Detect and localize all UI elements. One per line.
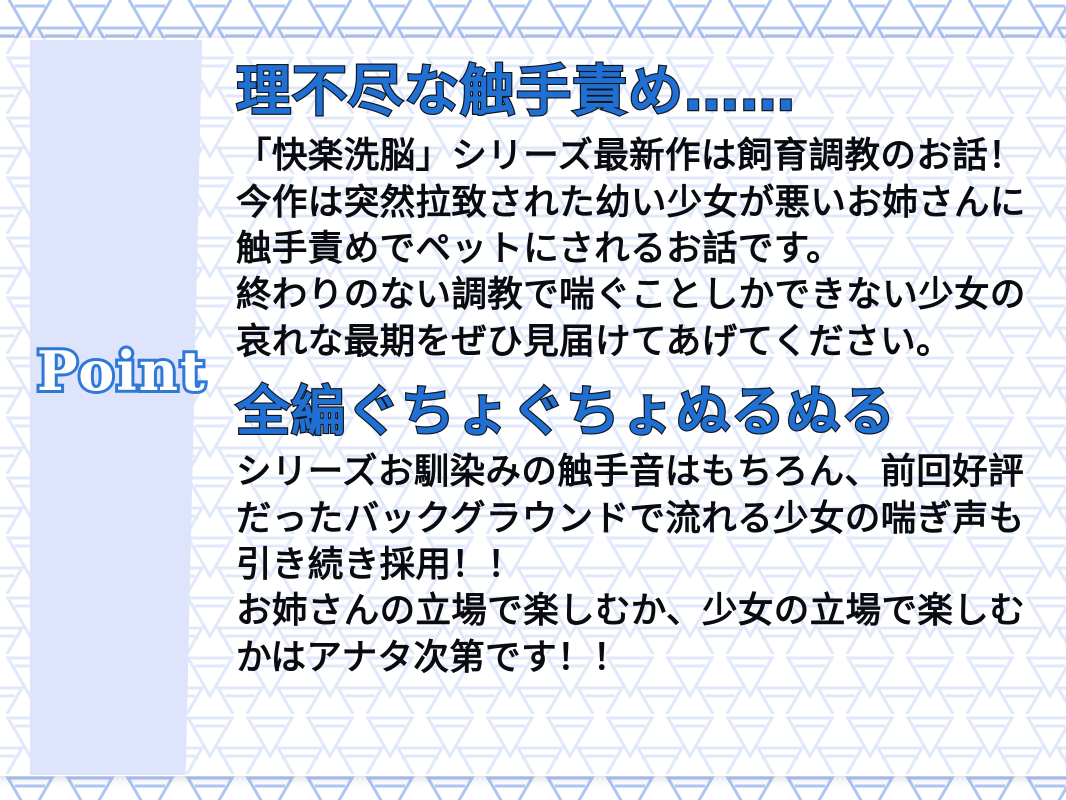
body-line: お姉さんの立場で楽しむか、少女の立場で楽しむ: [236, 588, 1064, 634]
body-line: 今作は突然拉致された幼い少女が悪いお姉さんに: [236, 180, 1064, 226]
section-2-headline: 全編ぐちょぐちょぬるぬる: [236, 383, 1064, 441]
body-line: だったバックグラウンドで流れる少女の喘ぎ声も: [236, 496, 1064, 542]
body-line: 終わりのない調教で喘ぐことしかできない少女の: [236, 272, 1064, 318]
promo-slide: Point 理不尽な触手責め…… 「快楽洗脳」シリーズ最新作は飼育調教のお話！ …: [0, 0, 1066, 800]
point-side-band: [30, 40, 202, 775]
body-line: 触手責めでペットにされるお話です。: [236, 226, 1064, 272]
body-line: かはアナタ次第です！！: [236, 635, 1064, 681]
body-line: 「快楽洗脳」シリーズ最新作は飼育調教のお話！: [236, 133, 1064, 179]
text-column: 理不尽な触手責め…… 「快楽洗脳」シリーズ最新作は飼育調教のお話！ 今作は突然拉…: [236, 62, 1064, 681]
body-line: シリーズお馴染みの触手音はもちろん、前回好評: [236, 449, 1064, 495]
body-line: 引き続き採用！！: [236, 542, 1064, 588]
section-1-headline: 理不尽な触手責め……: [236, 62, 1064, 121]
point-label: Point: [34, 344, 210, 398]
section-1-body: 「快楽洗脳」シリーズ最新作は飼育調教のお話！ 今作は突然拉致された幼い少女が悪い…: [236, 133, 1064, 365]
section-2-body: シリーズお馴染みの触手音はもちろん、前回好評 だったバックグラウンドで流れる少女…: [236, 449, 1064, 681]
body-line: 哀れな最期をぜひ見届けてあげてください。: [236, 319, 1064, 365]
